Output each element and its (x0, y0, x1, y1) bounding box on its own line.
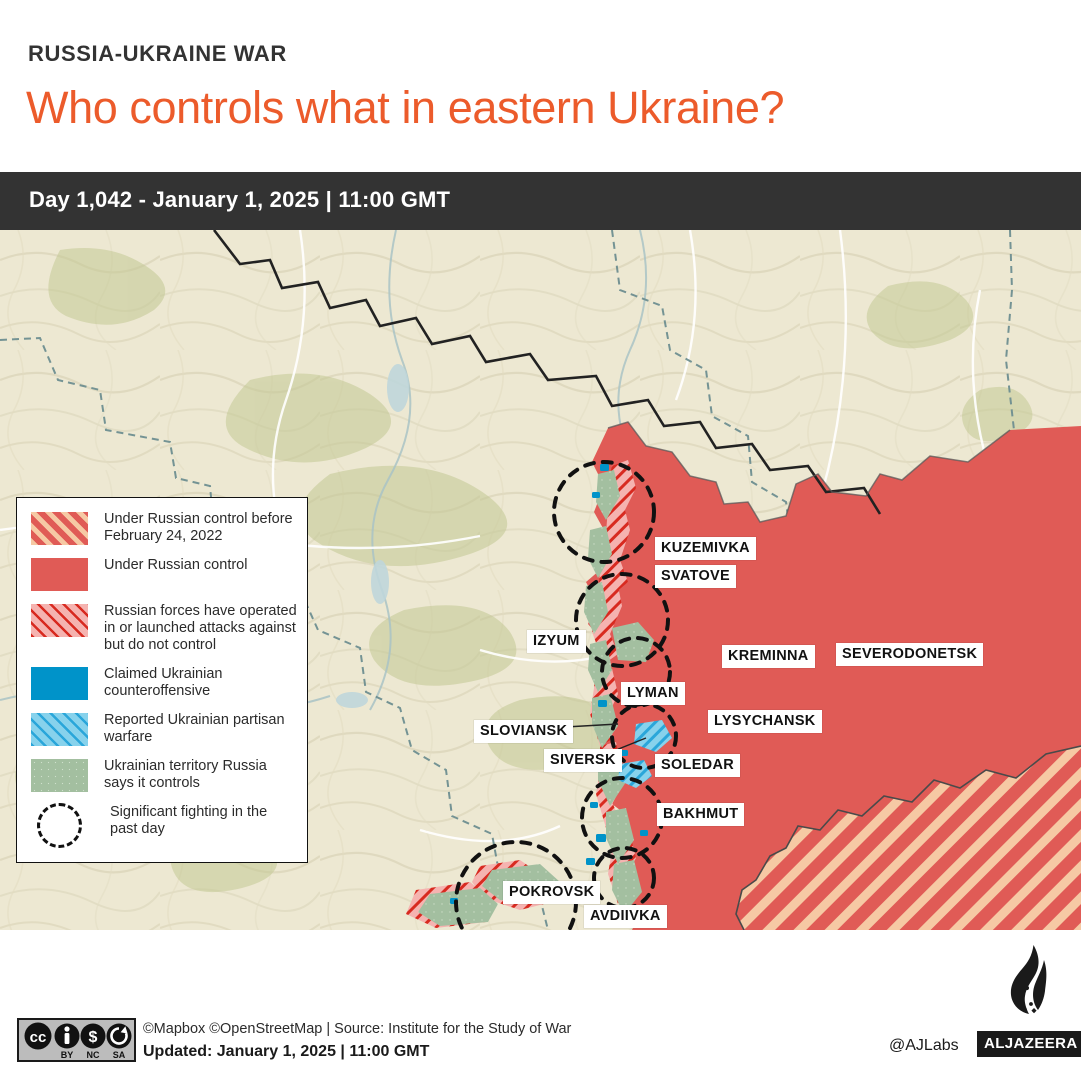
ajlabs-handle: @AJLabs (889, 1037, 959, 1055)
svg-text:cc: cc (30, 1029, 47, 1046)
map-legend: Under Russian control before February 24… (16, 497, 308, 863)
header: RUSSIA-UKRAINE WAR Who controls what in … (0, 0, 1081, 172)
legend-swatch-operated-not-controlled (31, 604, 88, 637)
cc-sa-label: SA (113, 1050, 126, 1060)
date-bar-text: Day 1,042 - January 1, 2025 | 11:00 GMT (29, 187, 450, 213)
city-label-svatove[interactable]: SVATOVE (655, 565, 736, 588)
city-label-siversk[interactable]: SIVERSK (544, 749, 622, 772)
city-label-severodonetsk[interactable]: SEVERODONETSK (836, 643, 983, 666)
legend-label-significant-fighting: Significant fighting in the past day (110, 803, 297, 838)
legend-label-prewar-control: Under Russian control before February 24… (104, 510, 297, 545)
legend-item-significant-fighting: Significant fighting in the past day (31, 803, 297, 848)
city-label-soledar[interactable]: SOLEDAR (655, 754, 740, 777)
cc-license-icon: cc $ BY NC SA (19, 1020, 134, 1060)
map-attribution: ©Mapbox ©OpenStreetMap | Source: Institu… (143, 1021, 571, 1037)
legend-swatch-partisan-warfare (31, 713, 88, 746)
legend-item-partisan-warfare: Reported Ukrainian partisan warfare (31, 711, 297, 746)
svg-text:$: $ (89, 1029, 98, 1046)
legend-label-partisan-warfare: Reported Ukrainian partisan warfare (104, 711, 297, 746)
legend-swatch-counteroffensive (31, 667, 88, 700)
aljazeera-flame-logo-icon (1000, 944, 1062, 1020)
city-label-lyman[interactable]: LYMAN (621, 682, 685, 705)
city-label-izyum[interactable]: IZYUM (527, 630, 586, 653)
legend-item-operated-not-controlled: Russian forces have operated in or launc… (31, 602, 297, 654)
legend-item-prewar-control: Under Russian control before February 24… (31, 510, 297, 545)
city-label-pokrovsk[interactable]: POKROVSK (503, 881, 600, 904)
page-title: Who controls what in eastern Ukraine? (26, 82, 784, 134)
legend-label-operated-not-controlled: Russian forces have operated in or launc… (104, 602, 297, 654)
updated-timestamp: Updated: January 1, 2025 | 11:00 GMT (143, 1043, 429, 1061)
city-label-sloviansk[interactable]: SLOVIANSK (474, 720, 573, 743)
legend-swatch-prewar-control (31, 512, 88, 545)
legend-swatch-russian-control (31, 558, 88, 591)
kicker-label: RUSSIA-UKRAINE WAR (28, 41, 287, 67)
city-label-kreminna[interactable]: KREMINNA (722, 645, 815, 668)
legend-label-counteroffensive: Claimed Ukrainian counteroffensive (104, 665, 297, 700)
legend-label-claimed-territory: Ukrainian territory Russia says it contr… (104, 757, 297, 792)
cc-by-label: BY (61, 1050, 74, 1060)
legend-item-counteroffensive: Claimed Ukrainian counteroffensive (31, 665, 297, 700)
legend-label-russian-control: Under Russian control (104, 556, 247, 574)
legend-swatch-claimed-territory (31, 759, 88, 792)
legend-item-russian-control: Under Russian control (31, 556, 297, 591)
legend-item-claimed-territory: Ukrainian territory Russia says it contr… (31, 757, 297, 792)
infographic-root: RUSSIA-UKRAINE WAR Who controls what in … (0, 0, 1081, 1081)
dashed-circle-icon (37, 803, 82, 848)
date-bar: Day 1,042 - January 1, 2025 | 11:00 GMT (0, 172, 1081, 230)
cc-nc-label: NC (87, 1050, 100, 1060)
creative-commons-badge: cc $ BY NC SA (17, 1018, 136, 1062)
city-label-avdiivka[interactable]: AVDIIVKA (584, 905, 667, 928)
city-label-kuzemivka[interactable]: KUZEMIVKA (655, 537, 756, 560)
city-label-bakhmut[interactable]: BAKHMUT (657, 803, 744, 826)
aljazeera-wordmark: ALJAZEERA (977, 1031, 1081, 1057)
city-label-lysychansk[interactable]: LYSYCHANSK (708, 710, 822, 733)
